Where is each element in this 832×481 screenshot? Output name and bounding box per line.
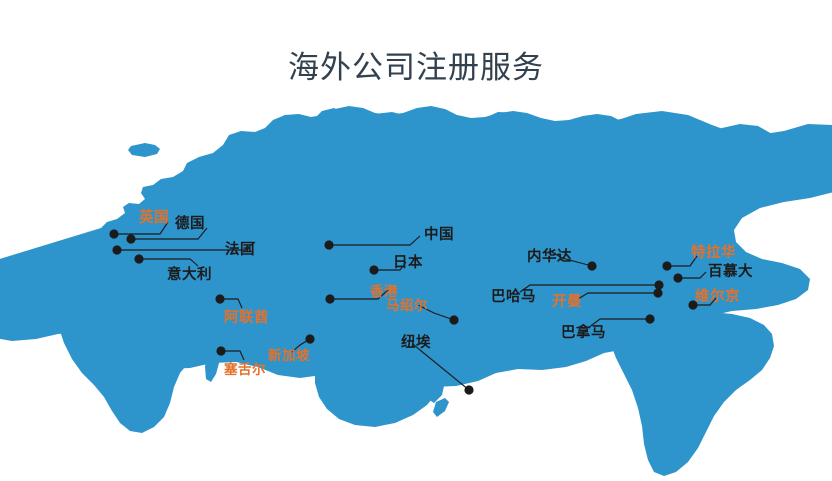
- dot-nevada: [587, 261, 596, 270]
- label-japan: 日本: [393, 256, 423, 271]
- label-germany: 德国: [175, 217, 205, 232]
- label-cayman: 开曼: [552, 295, 582, 310]
- label-panama: 巴拿马: [561, 326, 606, 341]
- label-bermuda: 百慕大: [708, 265, 753, 280]
- dot-china: [324, 240, 333, 249]
- dot-bermuda: [673, 273, 682, 282]
- label-marshall: 马绍尔: [386, 300, 428, 314]
- dot-italy: [134, 254, 143, 263]
- label-niue: 纽埃: [401, 336, 431, 351]
- dot-niue: [464, 385, 473, 394]
- label-singapore: 新加坡: [268, 350, 310, 364]
- label-seychelles: 塞舌尔: [224, 364, 266, 378]
- dot-japan: [369, 265, 378, 274]
- poster-canvas: 海外公司注册服务: [0, 0, 832, 481]
- label-france: 法国: [225, 243, 255, 258]
- label-delaware: 特拉华: [691, 246, 736, 261]
- dot-uk: [109, 229, 118, 238]
- label-uk: 英国: [139, 211, 169, 226]
- dot-marshall: [449, 315, 458, 324]
- dot-panama: [645, 314, 654, 323]
- label-china: 中国: [424, 228, 454, 243]
- dot-singapore: [305, 334, 314, 343]
- dot-germany: [126, 234, 135, 243]
- dot-delaware: [662, 261, 671, 270]
- world-map-graphic: 英国 德国 法国 意大利 阿联酋 中国 日本 香港 马绍尔 塞舌尔 新加坡 纽埃…: [0, 0, 832, 481]
- dot-cayman: [653, 288, 662, 297]
- dot-uae: [215, 294, 224, 303]
- label-uae: 阿联酋: [224, 311, 269, 326]
- marker-layer: [0, 0, 832, 481]
- label-bahamas: 巴哈马: [491, 290, 536, 305]
- label-italy: 意大利: [167, 268, 212, 283]
- dot-bahamas: [654, 280, 663, 289]
- dot-hongkong: [325, 294, 334, 303]
- dot-france: [112, 245, 121, 254]
- dot-seychelles: [216, 346, 225, 355]
- label-virgin: 维尔京: [695, 290, 740, 305]
- label-nevada: 内华达: [527, 250, 572, 265]
